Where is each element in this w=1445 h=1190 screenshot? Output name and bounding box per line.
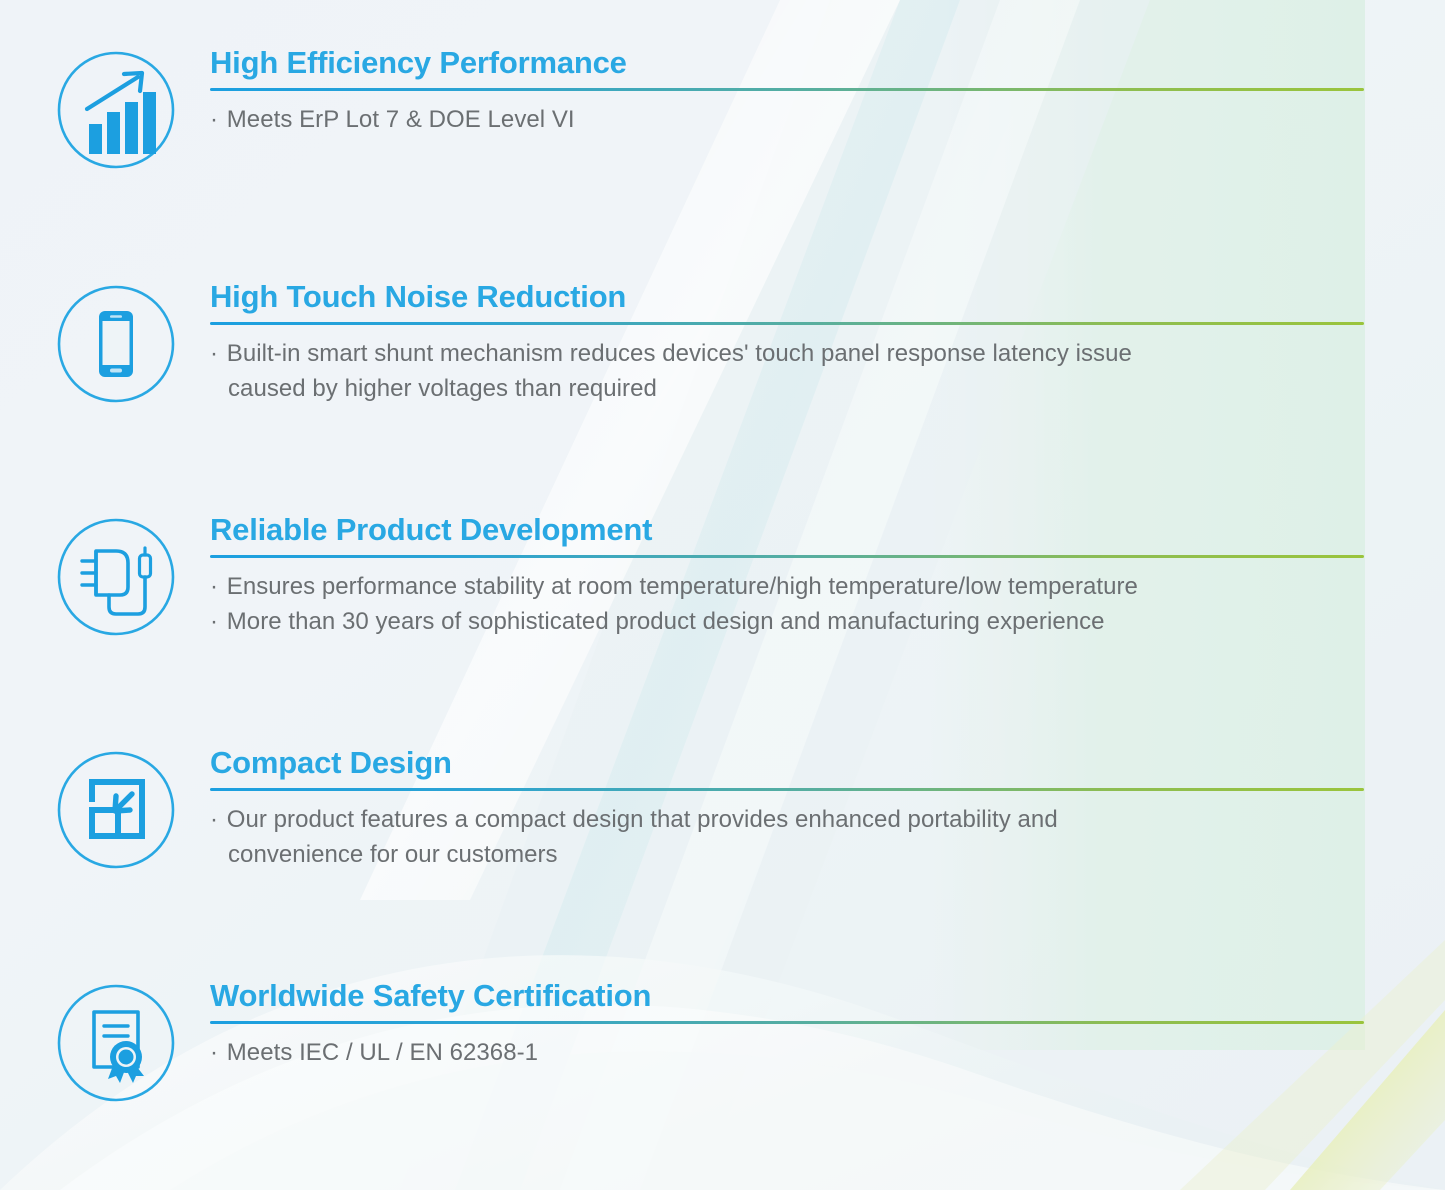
feature-line-text: convenience for our customers (228, 841, 558, 868)
feature-divider (210, 788, 1364, 791)
bullet-marker: · (210, 573, 218, 600)
feature-body: High Touch Noise Reduction · Built-in sm… (210, 280, 1365, 406)
feature-list: High Efficiency Performance · Meets ErP … (0, 0, 1445, 1190)
feature-line-text: Our product features a compact design th… (227, 806, 1058, 833)
feature-line-text: More than 30 years of sophisticated prod… (227, 608, 1105, 635)
feature-title: High Efficiency Performance (210, 46, 1365, 79)
feature-body: Worldwide Safety Certification · Meets I… (210, 979, 1365, 1071)
feature-body: High Efficiency Performance · Meets ErP … (210, 46, 1365, 138)
feature-lines: · Meets IEC / UL / EN 62368-1 (210, 1036, 1365, 1070)
bullet-marker: · (210, 106, 218, 133)
power-adapter-icon (54, 515, 178, 639)
feature-divider (210, 322, 1364, 325)
feature-lines: · Meets ErP Lot 7 & DOE Level VI (210, 103, 1365, 137)
certificate-seal-icon (54, 981, 178, 1105)
feature-title: Compact Design (210, 746, 1365, 779)
feature-title: Worldwide Safety Certification (210, 979, 1365, 1012)
bullet-marker: · (210, 340, 218, 367)
feature-line-text: Meets ErP Lot 7 & DOE Level VI (227, 106, 575, 133)
smartphone-icon (54, 282, 178, 406)
feature-line: · Meets IEC / UL / EN 62368-1 (210, 1036, 1365, 1070)
feature-title: Reliable Product Development (210, 513, 1365, 546)
feature-line-continuation: convenience for our customers (210, 838, 1365, 872)
feature-line-text: Meets IEC / UL / EN 62368-1 (227, 1039, 538, 1066)
feature-line: · Our product features a compact design … (210, 803, 1365, 837)
feature-lines: · Our product features a compact design … (210, 803, 1365, 871)
feature-divider (210, 1021, 1364, 1024)
bullet-marker: · (210, 1039, 218, 1066)
feature-line-text: Ensures performance stability at room te… (227, 573, 1138, 600)
feature-line: · Ensures performance stability at room … (210, 570, 1365, 604)
bullet-marker: · (210, 608, 218, 635)
feature-divider (210, 88, 1364, 91)
feature-line: · Built-in smart shunt mechanism reduces… (210, 337, 1365, 371)
feature-lines: · Built-in smart shunt mechanism reduces… (210, 337, 1365, 405)
feature-line: · Meets ErP Lot 7 & DOE Level VI (210, 103, 1365, 137)
feature-body: Compact Design · Our product features a … (210, 746, 1365, 872)
feature-line-continuation: caused by higher voltages than required (210, 372, 1365, 406)
feature-body: Reliable Product Development · Ensures p… (210, 513, 1365, 639)
feature-line: · More than 30 years of sophisticated pr… (210, 605, 1365, 639)
feature-line-text: Built-in smart shunt mechanism reduces d… (227, 340, 1132, 367)
compact-resize-icon (54, 748, 178, 872)
feature-lines: · Ensures performance stability at room … (210, 570, 1365, 638)
bar-chart-growth-icon (54, 48, 178, 172)
feature-divider (210, 555, 1364, 558)
feature-line-text: caused by higher voltages than required (228, 375, 657, 402)
bullet-marker: · (210, 806, 218, 833)
feature-title: High Touch Noise Reduction (210, 280, 1365, 313)
